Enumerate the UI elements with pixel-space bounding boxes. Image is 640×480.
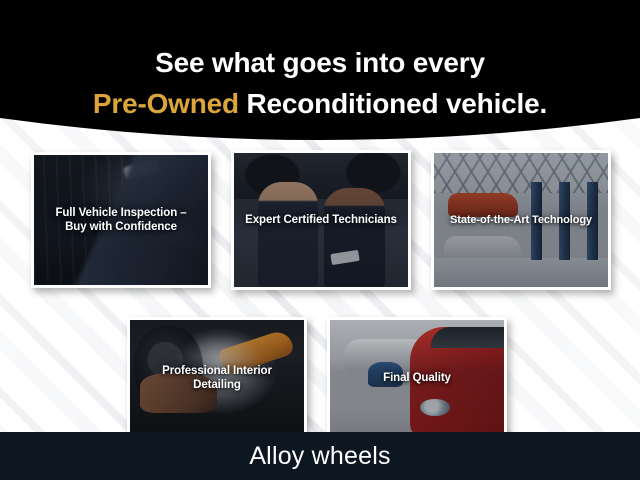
card-caption-line-2: Buy with Confidence	[65, 221, 177, 233]
card-caption-line-1: Full Vehicle Inspection –	[55, 207, 186, 219]
header-text-block: See what goes into every Pre-Owned Recon…	[0, 0, 640, 123]
headline-rest: Reconditioned vehicle.	[239, 88, 547, 119]
headline-line-2: Pre-Owned Reconditioned vehicle.	[0, 85, 640, 123]
card-caption-line-2: Detailing	[193, 379, 241, 391]
card-caption: Expert Certified Technicians	[234, 213, 408, 227]
feature-card-full-vehicle-inspection[interactable]: Full Vehicle Inspection – Buy with Confi…	[31, 152, 211, 288]
feature-card-expert-certified-technicians[interactable]: Expert Certified Technicians	[231, 150, 411, 290]
card-caption-line-1: Professional Interior	[162, 365, 272, 377]
bottom-caption-bar: Alloy wheels	[0, 432, 640, 480]
headline-highlight: Pre-Owned	[93, 88, 239, 119]
card-caption-line-1: State-of-the-Art Technology	[450, 214, 592, 226]
vehicle-reconditioning-banner: See what goes into every Pre-Owned Recon…	[0, 0, 640, 480]
header-banner: See what goes into every Pre-Owned Recon…	[0, 0, 640, 152]
card-caption: Professional Interior Detailing	[130, 364, 304, 392]
card-caption: Full Vehicle Inspection – Buy with Confi…	[34, 206, 208, 234]
bottom-caption-label: Alloy wheels	[249, 442, 390, 470]
card-caption-line-1: Expert Certified Technicians	[245, 214, 397, 226]
card-caption-line-1: Final Quality	[383, 372, 451, 384]
card-caption: State-of-the-Art Technology	[434, 213, 608, 227]
headline-line-1: See what goes into every	[0, 44, 640, 82]
card-caption: Final Quality	[330, 371, 504, 385]
feature-card-state-of-the-art-technology[interactable]: State-of-the-Art Technology	[431, 150, 611, 290]
feature-card-final-quality[interactable]: Final Quality	[327, 317, 507, 439]
feature-card-professional-interior-detailing[interactable]: Professional Interior Detailing	[127, 317, 307, 439]
